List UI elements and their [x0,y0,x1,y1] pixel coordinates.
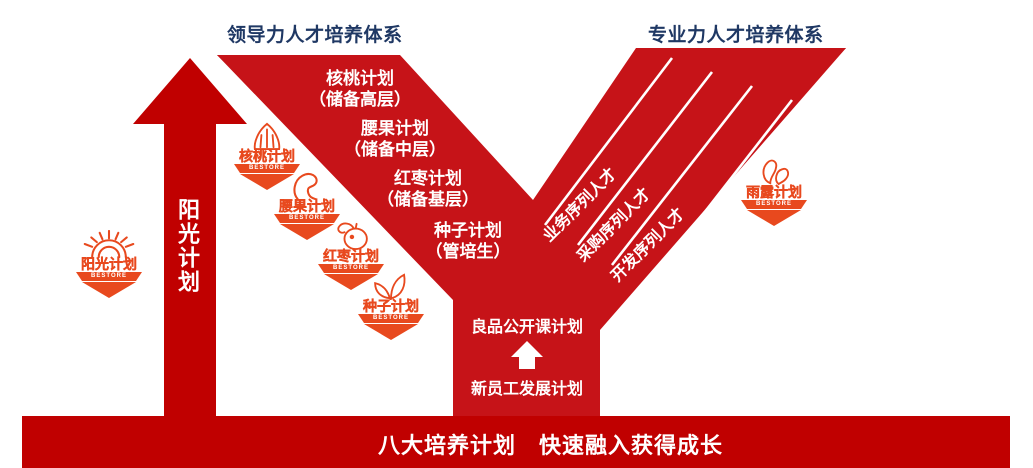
center-bottom-label: 新员工发展计划 [453,375,601,399]
sun-icon [81,230,137,258]
center-top-label: 良品公开课计划 [453,313,601,337]
badge-sunshine[interactable]: 阳光计划 BESTORE [70,230,148,298]
leadership-level-2: 红枣计划 （储备基层） [358,168,498,210]
badge-dew[interactable]: 雨露计划 BESTORE [735,158,813,226]
leadership-level-1-tier: （储备中层） [325,139,465,160]
badge-cashew-sub: BESTORE [268,215,346,221]
sprout-icon [363,272,419,300]
footer-slogan: 八大培养计划 快速融入获得成长 [378,428,723,460]
dew-icon [746,158,802,186]
leadership-level-2-tier: （储备基层） [358,189,498,210]
leadership-level-0-name: 核桃计划 [290,68,430,89]
badge-walnut-name: 核桃计划 [228,148,306,164]
badge-dew-name: 雨露计划 [735,184,813,200]
heading-professional-system: 专业力人才培养体系 [648,20,824,47]
sunshine-plan-vertical-label: 阳光计划 [172,198,202,294]
badge-sunshine-name: 阳光计划 [70,256,148,272]
leadership-level-3-tier: （管培生） [398,241,538,262]
walnut-icon [239,122,295,150]
leadership-level-0: 核桃计划 （储备高层） [290,68,430,110]
leadership-level-1: 腰果计划 （储备中层） [325,118,465,160]
leadership-level-1-name: 腰果计划 [325,118,465,139]
badge-walnut-sub: BESTORE [228,165,306,171]
leadership-level-3: 种子计划 （管培生） [398,220,538,262]
badge-seed-sub: BESTORE [352,315,430,321]
leadership-level-3-name: 种子计划 [398,220,538,241]
leadership-level-2-name: 红枣计划 [358,168,498,189]
heading-leadership-system: 领导力人才培养体系 [227,20,403,47]
badge-cashew-name: 腰果计划 [268,198,346,214]
badge-seed-name: 种子计划 [352,298,430,314]
cashew-icon [279,172,335,200]
badge-jujube-name: 红枣计划 [312,248,390,264]
jujube-icon [323,222,379,250]
poster-canvas: 领导力人才培养体系 专业力人才培养体系 核桃计划 （储备高层） 腰果计划 （储备… [0,0,1033,468]
badge-sunshine-sub: BESTORE [70,273,148,279]
badge-dew-sub: BESTORE [735,201,813,207]
badge-jujube-sub: BESTORE [312,265,390,271]
leadership-level-0-tier: （储备高层） [290,89,430,110]
badge-seed[interactable]: 种子计划 BESTORE [352,272,430,340]
